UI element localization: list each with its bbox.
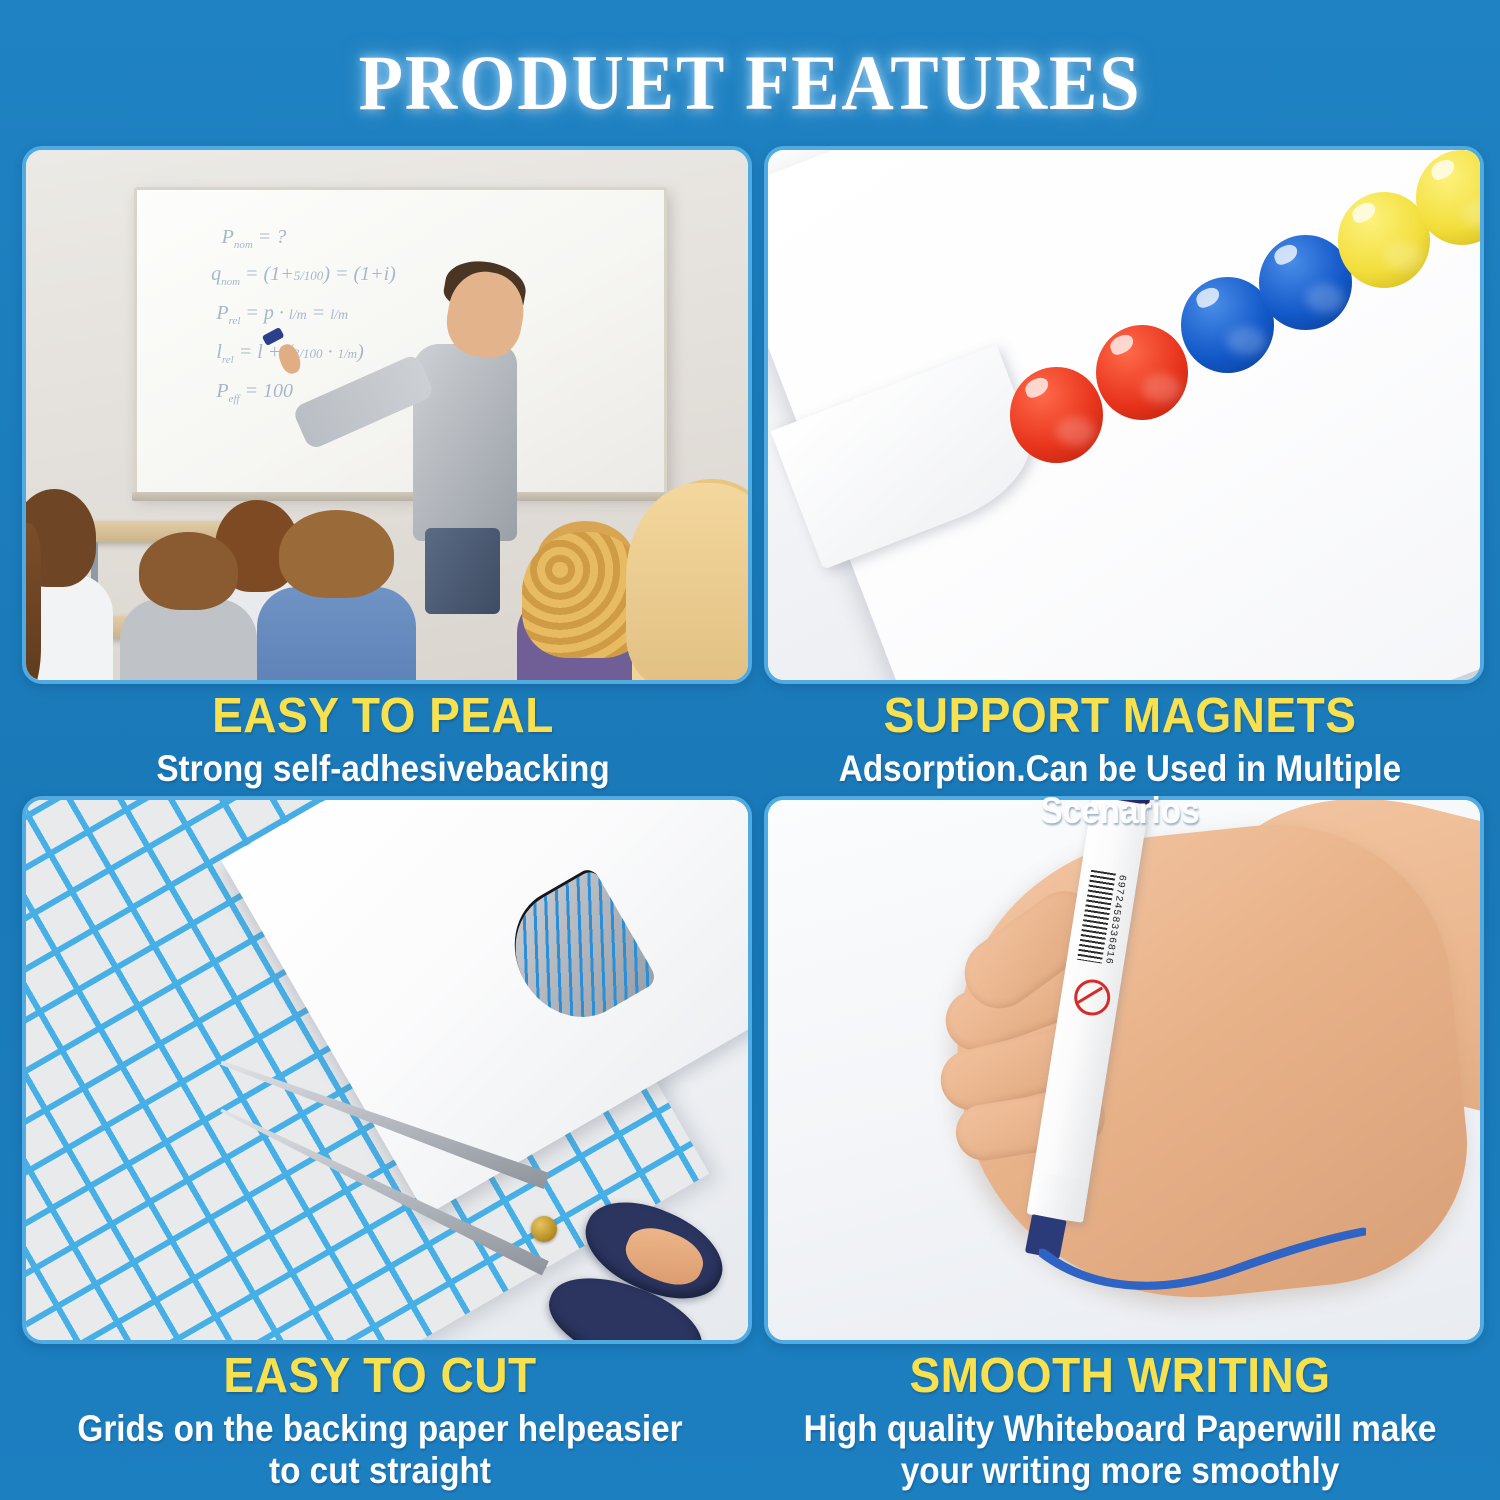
caption-description-line2: your writing more smoothly xyxy=(796,1450,1444,1492)
caption-description: High quality Whiteboard Paperwill make xyxy=(796,1408,1444,1450)
caption-heading: SUPPORT MAGNETS xyxy=(785,692,1454,742)
student-figure xyxy=(257,510,416,680)
feature-image-easy-to-cut xyxy=(22,796,752,1344)
caption-description: Grids on the backing paper helpeasier xyxy=(47,1408,713,1450)
caption-smooth-writing: SMOOTH WRITING High quality Whiteboard P… xyxy=(760,1352,1480,1492)
infographic-page: PRODUET FEATURES Pnom = ? qnom = (1+5/10… xyxy=(0,0,1500,1500)
no-children-under-3-icon xyxy=(1071,977,1112,1018)
student-figure xyxy=(632,479,748,680)
caption-heading: EASY TO PEAL xyxy=(44,692,723,742)
magnets-scene xyxy=(768,150,1480,680)
writing-scene: 6972458336816 xyxy=(768,800,1480,1340)
caption-description-line2: to cut straight xyxy=(47,1450,713,1492)
caption-heading: SMOOTH WRITING xyxy=(782,1352,1459,1402)
caption-easy-to-peal: EASY TO PEAL Strong self-adhesivebacking xyxy=(22,692,744,790)
caption-description: Adsorption.Can be Used in Multiple Scena… xyxy=(800,748,1441,832)
teacher-figure xyxy=(387,272,531,601)
feature-image-support-magnets xyxy=(764,146,1484,684)
magnet-red xyxy=(1096,325,1189,420)
caption-support-magnets: SUPPORT MAGNETS Adsorption.Can be Used i… xyxy=(764,692,1476,832)
ink-stroke xyxy=(1039,1227,1367,1297)
caption-heading: EASY TO CUT xyxy=(32,1352,728,1402)
feature-image-easy-to-peal: Pnom = ? qnom = (1+5/100) = (1+i) Prel =… xyxy=(22,146,752,684)
page-title: PRODUET FEATURES xyxy=(53,38,1448,128)
cutting-scene xyxy=(26,800,748,1340)
magnet-red xyxy=(1010,367,1103,462)
student-figure xyxy=(120,532,257,680)
classroom-scene: Pnom = ? qnom = (1+5/100) = (1+i) Prel =… xyxy=(26,150,748,680)
student-figure xyxy=(26,489,113,680)
caption-easy-to-cut: EASY TO CUT Grids on the backing paper h… xyxy=(10,1352,750,1492)
caption-description: Strong self-adhesivebacking xyxy=(58,748,708,790)
feature-image-smooth-writing: 6972458336816 xyxy=(764,796,1484,1344)
